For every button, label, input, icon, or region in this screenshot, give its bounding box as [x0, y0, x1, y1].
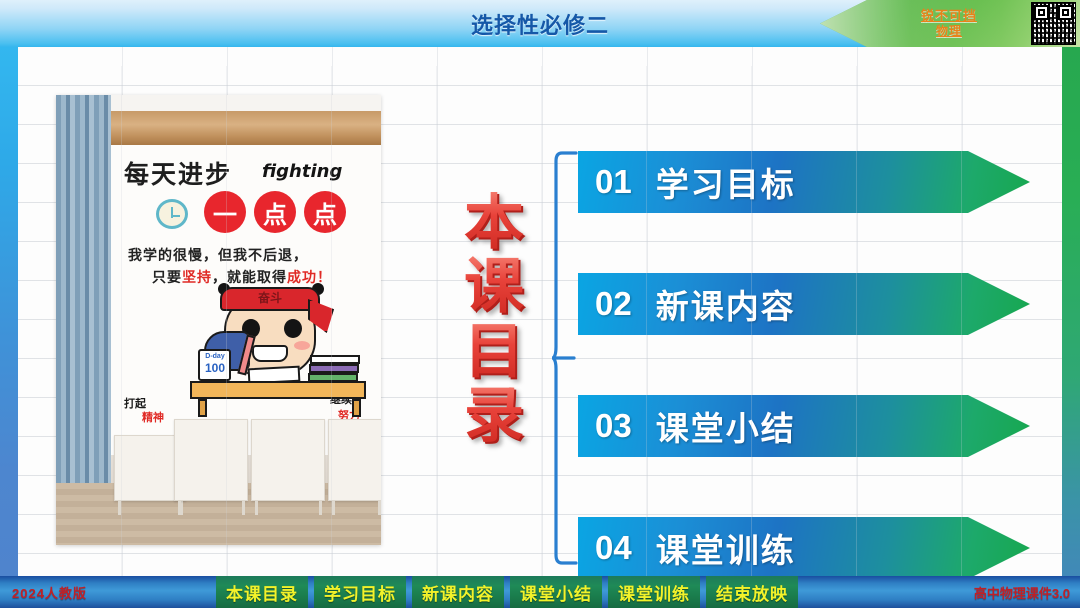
vtitle-char: 目: [464, 321, 524, 383]
slogan-part-b: 坚持: [182, 269, 212, 285]
banner-label: 课堂训练: [656, 524, 796, 572]
banner-label: 课堂小结: [656, 402, 796, 450]
brand-line-1: 锐不可挡: [921, 9, 977, 24]
photo-dot: 点: [304, 191, 346, 233]
section-vertical-title: 本 课 目 录: [450, 192, 538, 448]
qr-code-icon: [1031, 2, 1076, 45]
nav-button-objectives[interactable]: 学习目标: [314, 576, 406, 608]
section-banner-01[interactable]: 01 学习目标: [578, 151, 1030, 213]
banner-number: 03: [595, 407, 632, 445]
banner-number: 04: [595, 529, 632, 567]
alarm-clock-icon: [156, 199, 188, 229]
banner-label: 新课内容: [656, 280, 796, 328]
edition-label: 2024人教版: [12, 576, 87, 608]
bottom-nav-bar: 2024人教版 本课目录 学习目标 新课内容 课堂小结 课堂训练 结束放映 高中…: [0, 576, 1080, 608]
photo-slogan-line-2: 只要坚持，就能取得成功！: [152, 267, 381, 287]
section-banner-02[interactable]: 02 新课内容: [578, 273, 1030, 335]
photo-cabinet-leg: [118, 501, 121, 515]
courseware-label: 高中物理课件3.0: [974, 576, 1070, 608]
photo-dot: 点: [254, 191, 296, 233]
cartoon-desk-leg-left: [198, 399, 207, 417]
vtitle-char: 课: [464, 256, 524, 318]
photo-cabinet-leg: [378, 501, 381, 515]
nav-button-end-show[interactable]: 结束放映: [706, 576, 798, 608]
nav-button-practice[interactable]: 课堂训练: [608, 576, 700, 608]
top-header-bar: 选择性必修二 锐不可挡 物理: [0, 0, 1080, 47]
cartoon-headband-text: 奋斗: [246, 287, 294, 309]
calendar-number: 100: [200, 361, 230, 375]
footer-nav-group: 本课目录 学习目标 新课内容 课堂小结 课堂训练 结束放映: [216, 576, 798, 608]
photo-slogan-line-1: 我学的很慢，但我不后退，: [128, 245, 378, 265]
slide-body: 每天进步 fighting 一 点 点 我学的很慢，但我不后退， 只要坚持，就能…: [0, 47, 1080, 576]
cartoon-eye-right: [284, 319, 302, 338]
photo-cabinet-leg: [178, 501, 181, 515]
photo-cabinet-leg: [332, 501, 335, 515]
banner-number: 01: [595, 163, 632, 201]
section-banner-04[interactable]: 04 课堂训练: [578, 517, 1030, 576]
cartoon-desk-leg-right: [352, 399, 361, 417]
nav-button-summary[interactable]: 课堂小结: [510, 576, 602, 608]
vtitle-char: 录: [464, 385, 524, 447]
slogan-part-a: 只要: [152, 269, 182, 285]
cartoon-desk: [190, 381, 366, 399]
photo-cabinet-leg: [255, 501, 258, 515]
brand-block: 锐不可挡 物理: [894, 3, 1004, 45]
cartoon-mouth: [252, 345, 288, 362]
photo-fighting-text: fighting: [262, 161, 342, 182]
slide-border-left: [0, 47, 18, 576]
photo-wood-trim: [111, 111, 381, 145]
photo-cabinet-leg: [319, 501, 322, 515]
banner-number: 02: [595, 285, 632, 323]
vtitle-char: 本: [464, 192, 524, 254]
cartoon-cheek-right: [294, 341, 310, 350]
slide-canvas: 每天进步 fighting 一 点 点 我学的很慢，但我不后退， 只要坚持，就能…: [18, 47, 1062, 576]
slogan-part-d: 成功！: [287, 269, 332, 285]
book-purple: [309, 364, 359, 373]
slide-border-right: [1062, 47, 1080, 576]
book-white: [310, 355, 360, 364]
photo-cabinet: [251, 419, 325, 501]
photo-cabinet: [174, 419, 248, 501]
nav-button-new-content[interactable]: 新课内容: [412, 576, 504, 608]
section-banner-list: 01 学习目标 02 新课内容 03 课堂小结 04 课堂训练: [578, 147, 1043, 571]
photo-red-dots: 一 点 点: [204, 191, 346, 233]
calendar-label: D-day: [200, 353, 230, 360]
brand-line-2: 物理: [936, 25, 962, 39]
banner-label: 学习目标: [656, 158, 796, 206]
photo-cabinet: [328, 419, 381, 501]
photo-note-left-2: 精神: [142, 409, 164, 425]
photo-dot: 一: [204, 191, 246, 233]
classroom-wall-photo: 每天进步 fighting 一 点 点 我学的很慢，但我不后退， 只要坚持，就能…: [56, 95, 381, 545]
cartoon-book-stack: [308, 353, 360, 383]
photo-cabinet-leg: [242, 501, 245, 515]
nav-button-contents[interactable]: 本课目录: [216, 576, 308, 608]
blue-brace-connector: [552, 151, 578, 565]
section-banner-03[interactable]: 03 课堂小结: [578, 395, 1030, 457]
